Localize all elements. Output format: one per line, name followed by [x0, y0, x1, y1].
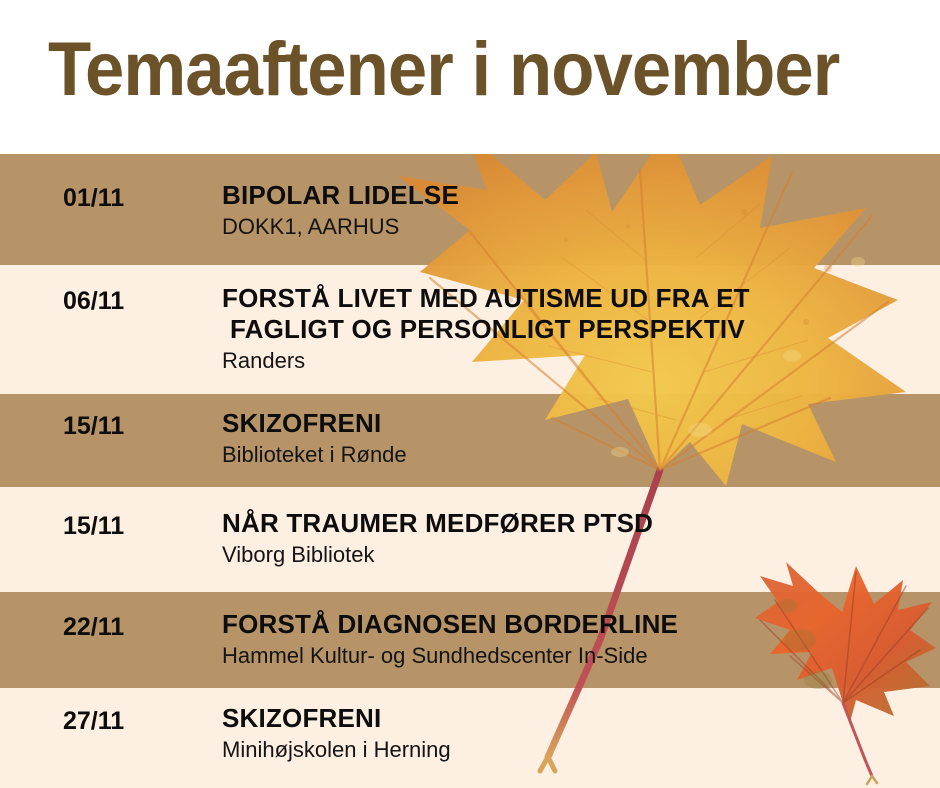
event-body: NÅR TRAUMER MEDFØRER PTSD Viborg Bibliot… [222, 508, 930, 568]
event-body: BIPOLAR LIDELSE DOKK1, AARHUS [222, 180, 930, 240]
event-title-line-1: BIPOLAR LIDELSE [222, 180, 459, 210]
event-row-5[interactable]: 22/11 FORSTÅ DIAGNOSEN BORDERLINE Hammel… [0, 592, 940, 688]
event-body: FORSTÅ DIAGNOSEN BORDERLINE Hammel Kultu… [222, 609, 930, 669]
poster-canvas: Temaaftener i november 01/11 BIPOLAR LID… [0, 0, 940, 788]
event-row-4[interactable]: 15/11 NÅR TRAUMER MEDFØRER PTSD Viborg B… [0, 487, 940, 592]
event-date: 06/11 [63, 287, 124, 316]
event-date: 22/11 [63, 613, 124, 642]
event-title-line-2: FAGLIGT OG PERSONLIGT PERSPEKTIV [222, 314, 930, 345]
event-place: Minihøjskolen i Herning [222, 736, 930, 763]
event-title: FORSTÅ LIVET MED AUTISME UD FRA ET FAGLI… [222, 283, 930, 345]
event-date: 15/11 [63, 512, 124, 541]
event-body: SKIZOFRENI Minihøjskolen i Herning [222, 703, 930, 763]
event-body: SKIZOFRENI Biblioteket i Rønde [222, 408, 930, 468]
event-date: 27/11 [63, 707, 124, 736]
event-place: Hammel Kultur- og Sundhedscenter In-Side [222, 642, 930, 669]
event-row-3[interactable]: 15/11 SKIZOFRENI Biblioteket i Rønde [0, 394, 940, 487]
event-place: Biblioteket i Rønde [222, 441, 930, 468]
event-place: Viborg Bibliotek [222, 541, 930, 568]
event-place: Randers [222, 347, 930, 374]
event-title-line-1: SKIZOFRENI [222, 408, 381, 438]
event-date: 15/11 [63, 412, 124, 441]
event-date: 01/11 [63, 184, 124, 213]
event-title-line-1: FORSTÅ DIAGNOSEN BORDERLINE [222, 609, 678, 639]
page-title: Temaaftener i november [48, 30, 839, 110]
event-title: SKIZOFRENI [222, 408, 930, 439]
event-row-6[interactable]: 27/11 SKIZOFRENI Minihøjskolen i Herning [0, 688, 940, 788]
event-row-2[interactable]: 06/11 FORSTÅ LIVET MED AUTISME UD FRA ET… [0, 265, 940, 394]
event-title-line-1: NÅR TRAUMER MEDFØRER PTSD [222, 508, 653, 538]
poster-header: Temaaftener i november [0, 0, 940, 154]
event-place: DOKK1, AARHUS [222, 213, 930, 240]
event-title-line-1: FORSTÅ LIVET MED AUTISME UD FRA ET [222, 283, 750, 313]
event-title: SKIZOFRENI [222, 703, 930, 734]
event-title: FORSTÅ DIAGNOSEN BORDERLINE [222, 609, 930, 640]
event-title-line-1: SKIZOFRENI [222, 703, 381, 733]
event-title: BIPOLAR LIDELSE [222, 180, 930, 211]
event-row-1[interactable]: 01/11 BIPOLAR LIDELSE DOKK1, AARHUS [0, 154, 940, 265]
event-body: FORSTÅ LIVET MED AUTISME UD FRA ET FAGLI… [222, 283, 930, 374]
event-title: NÅR TRAUMER MEDFØRER PTSD [222, 508, 930, 539]
